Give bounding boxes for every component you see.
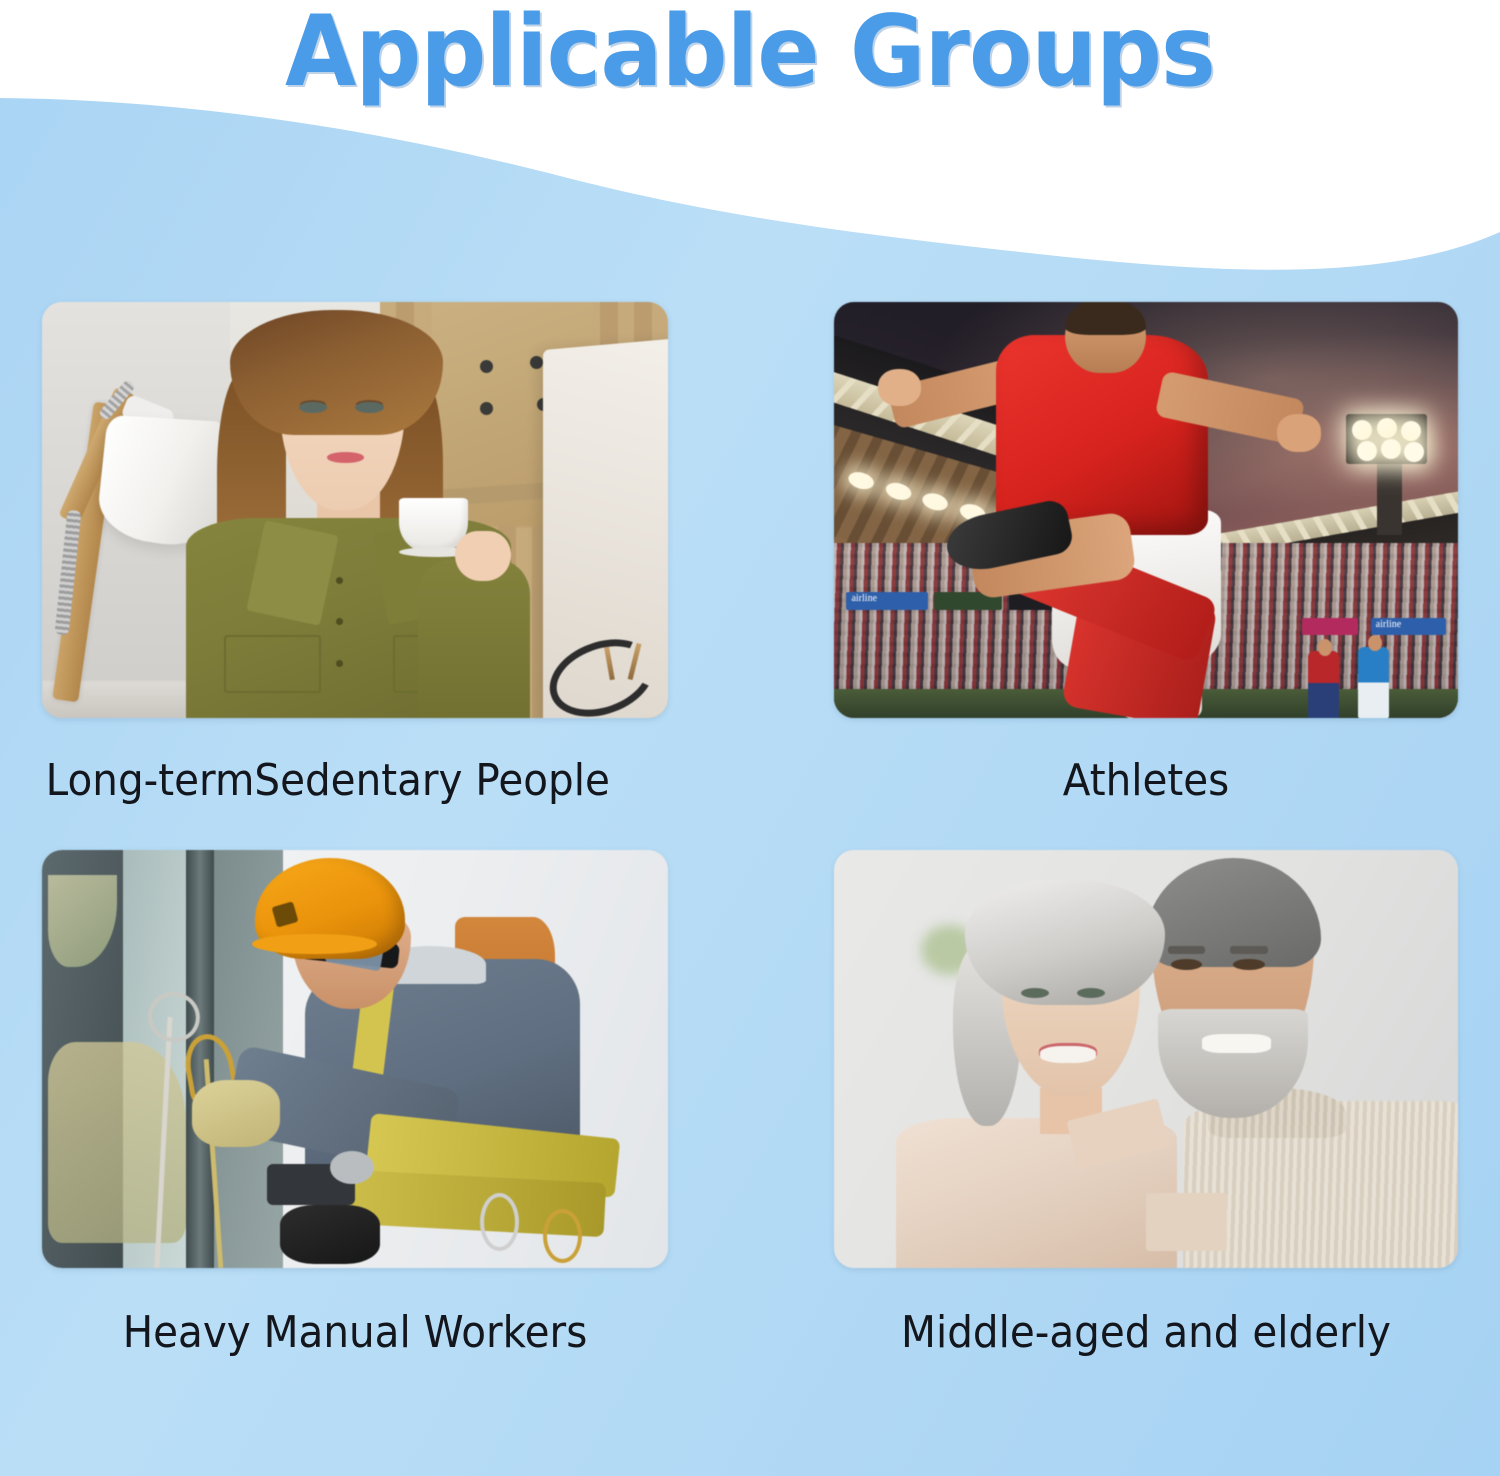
group-caption-middle-aged-and-elderly: Middle-aged and elderly: [859, 1268, 1433, 1360]
group-caption-long-term-sedentary-people: Long-termSedentary People: [42, 718, 618, 808]
group-image-heavy-manual-workers: [42, 850, 668, 1268]
applicable-groups-grid: Long-termSedentary People: [42, 302, 1458, 1360]
infographic-page: Applicable Groups: [0, 0, 1500, 1476]
group-item-heavy-manual-workers: Heavy Manual Workers: [42, 850, 668, 1360]
group-caption-heavy-manual-workers: Heavy Manual Workers: [67, 1268, 643, 1360]
group-image-middle-aged-and-elderly: [834, 850, 1458, 1268]
group-image-long-term-sedentary-people: [42, 302, 668, 718]
group-caption-athletes: Athletes: [859, 718, 1433, 808]
group-item-long-term-sedentary-people: Long-termSedentary People: [42, 302, 668, 808]
group-item-middle-aged-and-elderly: Middle-aged and elderly: [834, 850, 1458, 1360]
page-title: Applicable Groups: [45, 0, 1455, 108]
group-image-athletes: airline airline: [834, 302, 1458, 718]
group-item-athletes: airline airline: [834, 302, 1458, 808]
